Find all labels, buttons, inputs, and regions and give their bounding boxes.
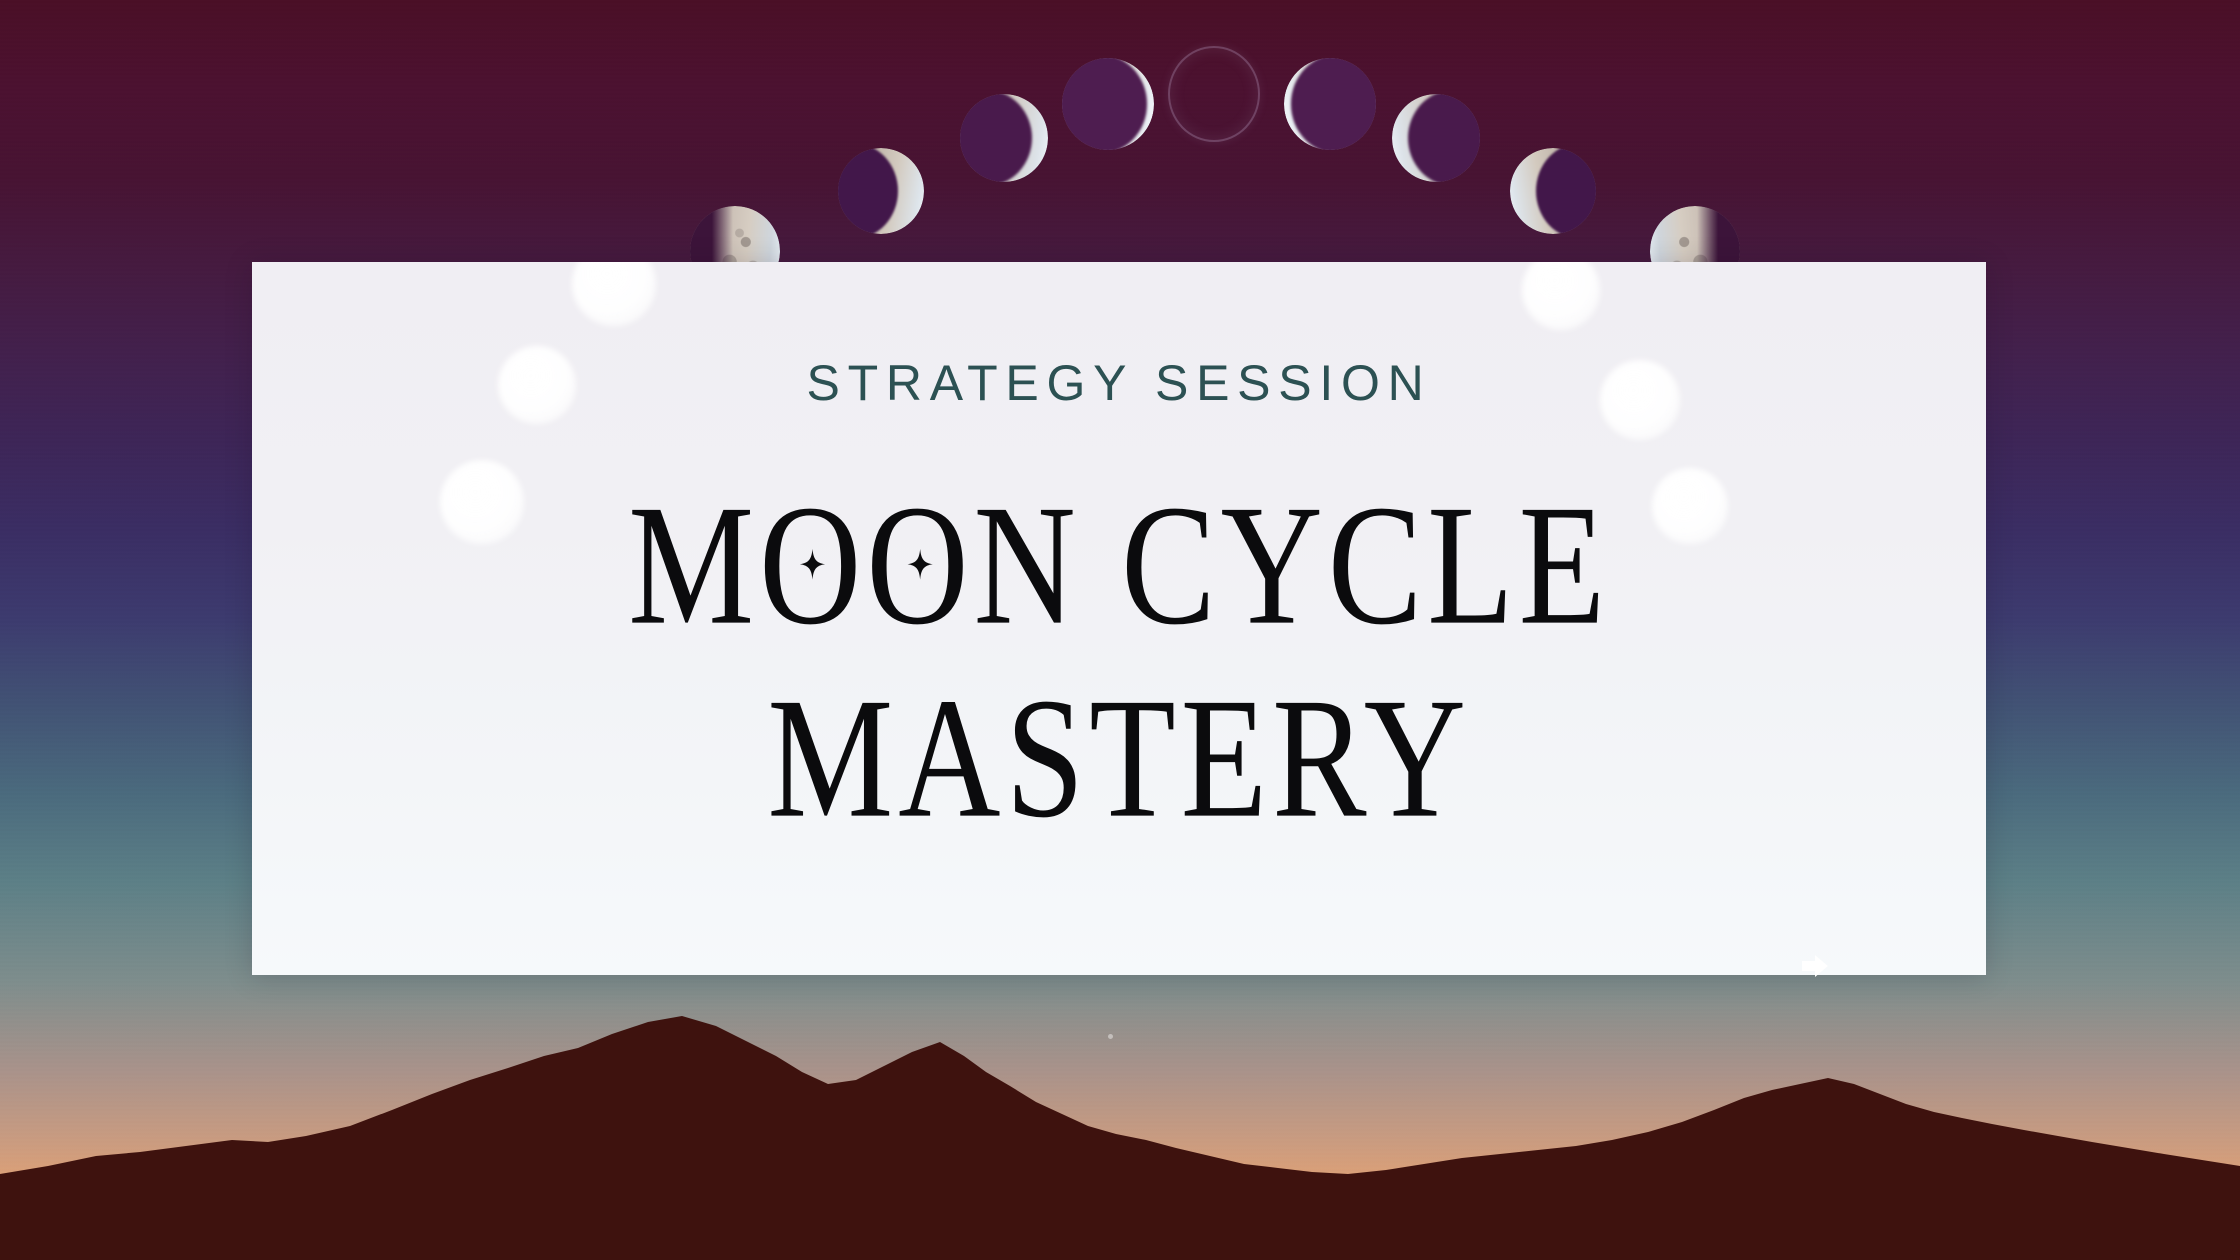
page-title-line-1: MOON CYCLE (628, 474, 1610, 657)
content-card: STRATEGY SESSION MOON CYCLE MASTERY (252, 262, 1986, 975)
page-title-line-2: MASTERY (628, 667, 1610, 850)
title-word-cycle: CYCLE (1121, 469, 1610, 660)
title-letter-o1: O (759, 474, 866, 657)
title-letter-o2-glyph: O (866, 469, 973, 660)
title-letter-m1: M (628, 469, 759, 660)
title-letter-n1: N (973, 469, 1080, 660)
eyebrow-label: STRATEGY SESSION (806, 358, 1431, 408)
foreground-light-dot (1108, 1034, 1113, 1039)
title-space (1081, 469, 1121, 660)
title-letter-o1-glyph: O (759, 469, 866, 660)
page-title: MOON CYCLE MASTERY (613, 474, 1625, 822)
title-letter-o2: O (866, 474, 973, 657)
moon-cycle-mastery-poster: STRATEGY SESSION MOON CYCLE MASTERY (0, 0, 2240, 1260)
mountain-range-silhouette (0, 960, 2240, 1260)
